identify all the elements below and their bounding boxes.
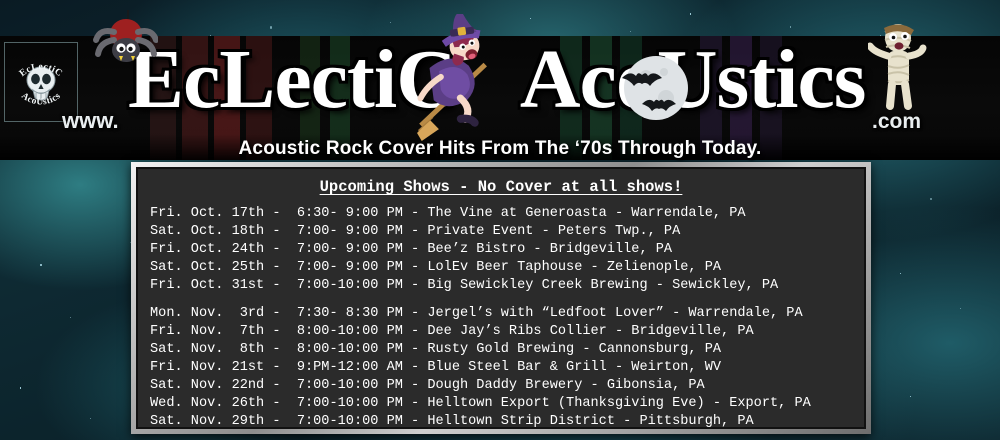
star	[20, 387, 21, 388]
star	[690, 13, 691, 14]
page-stage: EcLectiC AcoUstics www. EcLectiCAcoUstic…	[0, 0, 1000, 440]
show-listing-row: Fri. Oct. 24th - 7:00- 9:00 PM - Bee’z B…	[150, 241, 864, 259]
show-listing-row: Sat. Nov. 8th - 8:00-10:00 PM - Rusty Go…	[150, 341, 864, 359]
star	[960, 308, 961, 309]
site-tagline: Acoustic Rock Cover Hits From The ‘70s T…	[0, 138, 1000, 162]
star	[40, 264, 42, 266]
show-listing-row: Sat. Oct. 18th - 7:00- 9:00 PM - Private…	[150, 223, 864, 241]
star	[530, 18, 531, 19]
show-listing-row: Fri. Oct. 17th - 6:30- 9:00 PM - The Vin…	[150, 205, 864, 223]
url-www-prefix: www.	[62, 108, 119, 134]
upcoming-shows-panel-inner: Upcoming Shows - No Cover at all shows! …	[136, 167, 866, 429]
moon-with-bats-icon	[600, 48, 700, 132]
show-row-spacer	[150, 295, 864, 305]
show-listing-row: Mon. Nov. 3rd - 7:30- 8:30 PM - Jergel’s…	[150, 305, 864, 323]
upcoming-shows-panel: Upcoming Shows - No Cover at all shows! …	[131, 162, 871, 434]
show-listing-row: Sat. Nov. 29th - 7:00-10:00 PM - Helltow…	[150, 413, 864, 429]
star	[910, 396, 911, 397]
upcoming-shows-title: Upcoming Shows - No Cover at all shows!	[138, 178, 864, 196]
show-listing-row: Fri. Oct. 31st - 7:00-10:00 PM - Big Sew…	[150, 277, 864, 295]
spider-icon	[86, 10, 158, 82]
show-listing-row: Fri. Nov. 7th - 8:00-10:00 PM - Dee Jay’…	[150, 323, 864, 341]
star	[90, 418, 91, 419]
show-listing-row: Sat. Oct. 25th - 7:00- 9:00 PM - LolEv B…	[150, 259, 864, 277]
witch-on-broom-icon	[392, 14, 522, 142]
show-listing-row: Sat. Nov. 22nd - 7:00-10:00 PM - Dough D…	[150, 377, 864, 395]
star	[70, 317, 71, 318]
show-listing-rows: Fri. Oct. 17th - 6:30- 9:00 PM - The Vin…	[138, 205, 864, 429]
mummy-icon	[868, 22, 928, 114]
star	[900, 273, 901, 274]
show-listing-row: Fri. Nov. 21st - 9:PM-12:00 AM - Blue St…	[150, 359, 864, 377]
show-listing-row: Wed. Nov. 26th - 7:00-10:00 PM - Helltow…	[150, 395, 864, 413]
star	[930, 198, 932, 200]
